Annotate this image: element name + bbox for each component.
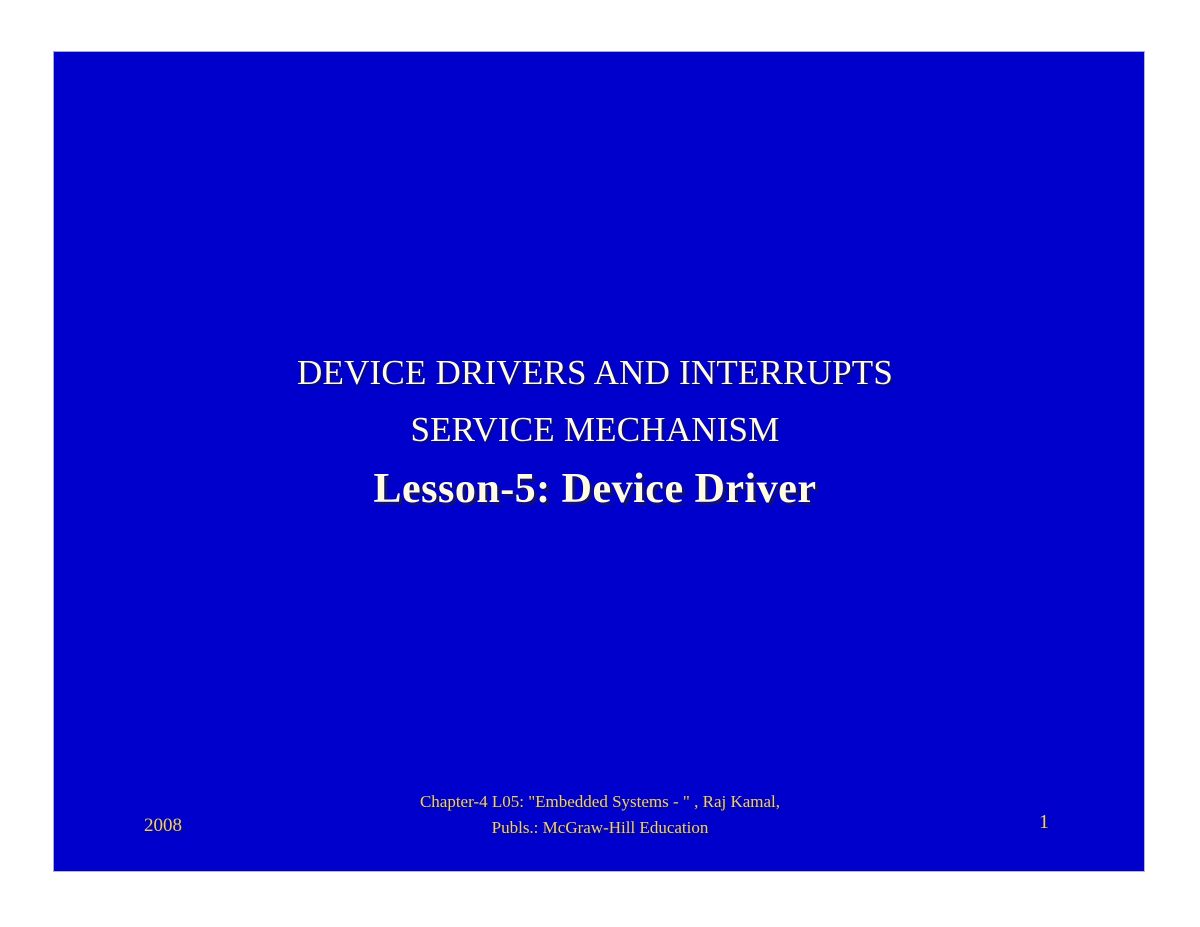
slide-page: DEVICE DRIVERS AND INTERRUPTS SERVICE ME… <box>0 0 1200 927</box>
slide-subtitle-lesson: Lesson-5: Device Driver <box>54 458 1136 520</box>
slide-title-line-2: SERVICE MECHANISM <box>54 401 1136 458</box>
slide-surface: DEVICE DRIVERS AND INTERRUPTS SERVICE ME… <box>53 51 1145 872</box>
footer-citation-line-1: Chapter-4 L05: "Embedded Systems - " , R… <box>420 792 780 811</box>
footer-citation: Chapter-4 L05: "Embedded Systems - " , R… <box>295 789 905 841</box>
footer-page-number: 1 <box>1039 811 1049 834</box>
footer-citation-line-2: Publs.: McGraw-Hill Education <box>492 818 709 837</box>
slide-title-block: DEVICE DRIVERS AND INTERRUPTS SERVICE ME… <box>54 344 1136 520</box>
slide-title-line-1: DEVICE DRIVERS AND INTERRUPTS <box>54 344 1136 401</box>
footer-year: 2008 <box>144 815 182 837</box>
slide-footer: 2008 Chapter-4 L05: "Embedded Systems - … <box>54 789 1146 849</box>
